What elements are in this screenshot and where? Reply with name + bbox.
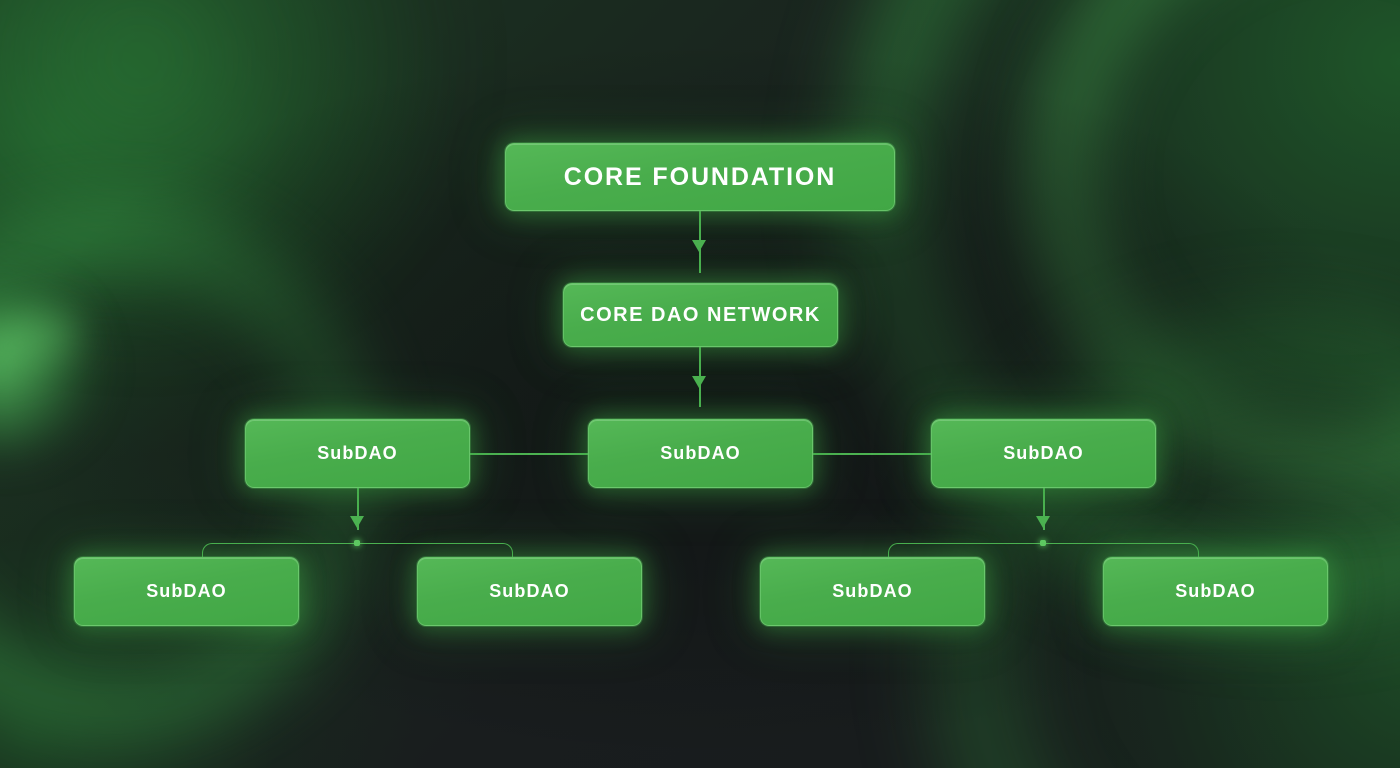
- edge-network-to-midcenter: [699, 347, 701, 407]
- org-chart: CORE FOUNDATIONCORE DAO NETWORKSubDAOSub…: [0, 0, 1400, 768]
- arrow-to-network-icon: [692, 240, 706, 252]
- arrow-to-midcenter-icon: [692, 376, 706, 388]
- node-core-foundation[interactable]: CORE FOUNDATION: [505, 143, 895, 211]
- node-subdao-leaf-3[interactable]: SubDAO: [760, 557, 985, 626]
- node-subdao-mid-center[interactable]: SubDAO: [588, 419, 813, 488]
- node-label: SubDAO: [832, 581, 913, 602]
- node-subdao-leaf-4[interactable]: SubDAO: [1103, 557, 1328, 626]
- junction-left-dot: [354, 540, 360, 546]
- node-subdao-mid-left[interactable]: SubDAO: [245, 419, 470, 488]
- node-subdao-mid-right[interactable]: SubDAO: [931, 419, 1156, 488]
- edge-midleft-to-bracket: [357, 488, 359, 530]
- edge-midleft-to-midcenter: [470, 453, 588, 455]
- edge-foundation-to-network: [699, 211, 701, 273]
- node-label: SubDAO: [1003, 443, 1084, 464]
- node-label: SubDAO: [317, 443, 398, 464]
- node-label: SubDAO: [489, 581, 570, 602]
- edge-midcenter-to-midright: [813, 453, 931, 455]
- arrow-to-bracket-right-icon: [1036, 516, 1050, 528]
- arrow-to-bracket-left-icon: [350, 516, 364, 528]
- diagram-canvas: CORE FOUNDATIONCORE DAO NETWORKSubDAOSub…: [0, 0, 1400, 768]
- node-subdao-leaf-1[interactable]: SubDAO: [74, 557, 299, 626]
- node-label: SubDAO: [146, 581, 227, 602]
- node-label: CORE FOUNDATION: [564, 163, 836, 192]
- edge-midright-to-bracket: [1043, 488, 1045, 530]
- junction-right-dot: [1040, 540, 1046, 546]
- node-subdao-leaf-2[interactable]: SubDAO: [417, 557, 642, 626]
- node-label: SubDAO: [1175, 581, 1256, 602]
- node-label: CORE DAO NETWORK: [580, 304, 821, 327]
- node-label: SubDAO: [660, 443, 741, 464]
- node-core-dao-network[interactable]: CORE DAO NETWORK: [563, 283, 838, 347]
